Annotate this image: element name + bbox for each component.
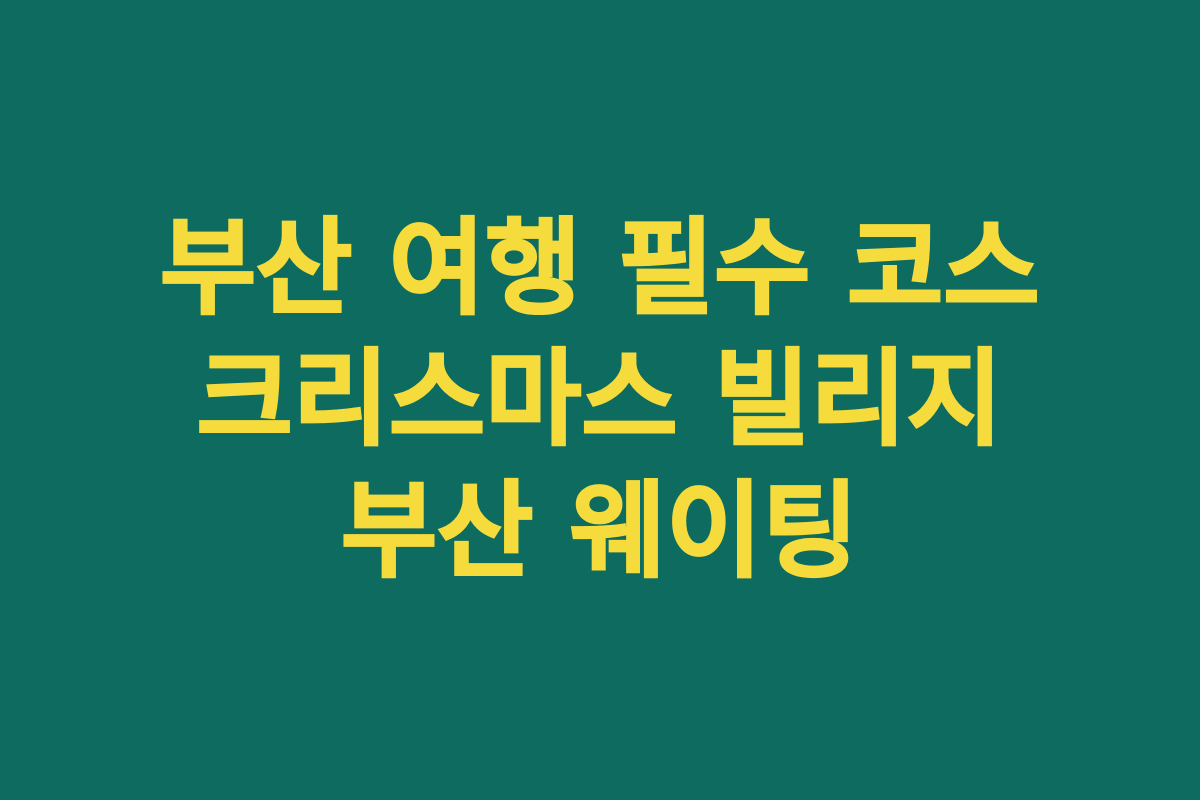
page-title: 부산 여행 필수 코스 크리스마스 빌리지 부산 웨이팅	[86, 203, 1114, 596]
headline-container: 부산 여행 필수 코스 크리스마스 빌리지 부산 웨이팅	[0, 0, 1200, 800]
thumbnail-canvas: 부산 여행 필수 코스 크리스마스 빌리지 부산 웨이팅	[0, 0, 1200, 800]
